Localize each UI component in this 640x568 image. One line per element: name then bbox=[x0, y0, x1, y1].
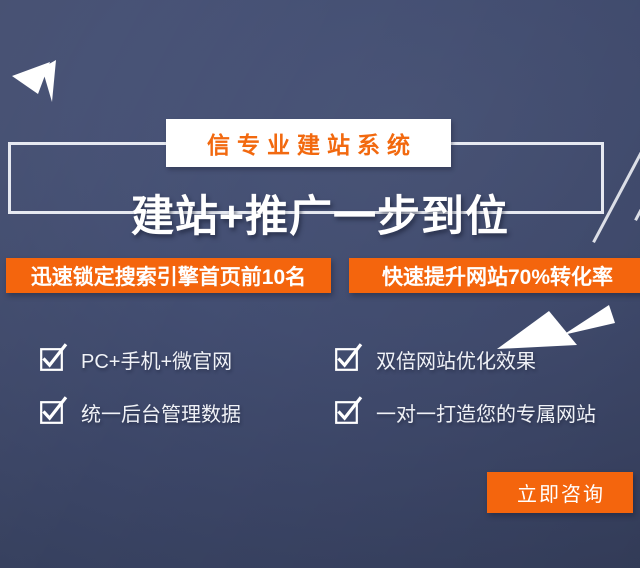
list-item-label: 统一后台管理数据 bbox=[81, 398, 241, 427]
eyebrow-label-box: 信专业建站系统 bbox=[166, 119, 451, 167]
list-item: 一对一打造您的专属网站 bbox=[335, 386, 630, 439]
list-item: PC+手机+微官网 bbox=[40, 333, 335, 386]
status-badge: 快速提升网站70%转化率 bbox=[349, 258, 640, 293]
list-item-label: 双倍网站优化效果 bbox=[376, 345, 536, 374]
checkbox-checked-icon bbox=[40, 348, 63, 371]
paper-plane-icon bbox=[12, 58, 74, 104]
page-title: 建站+推广一步到位 bbox=[131, 182, 509, 244]
checkbox-checked-icon bbox=[40, 401, 63, 424]
list-item-label: 一对一打造您的专属网站 bbox=[376, 398, 596, 427]
headline-row: 建站+推广一步到位 bbox=[0, 183, 640, 243]
eyebrow-label: 信专业建站系统 bbox=[200, 126, 417, 160]
list-item: 双倍网站优化效果 bbox=[335, 333, 630, 386]
list-item-label: PC+手机+微官网 bbox=[81, 345, 232, 374]
promo-banner: 信专业建站系统 建站+推广一步到位 迅速锁定搜索引擎首页前10名 快速提升网站7… bbox=[0, 0, 640, 568]
checkbox-checked-icon bbox=[335, 401, 358, 424]
feature-list: PC+手机+微官网 双倍网站优化效果 统一后台管理数据 bbox=[40, 333, 630, 439]
consult-now-button[interactable]: 立即咨询 bbox=[487, 472, 633, 513]
checkbox-checked-icon bbox=[335, 348, 358, 371]
list-item: 统一后台管理数据 bbox=[40, 386, 335, 439]
status-badge: 迅速锁定搜索引擎首页前10名 bbox=[6, 258, 331, 293]
